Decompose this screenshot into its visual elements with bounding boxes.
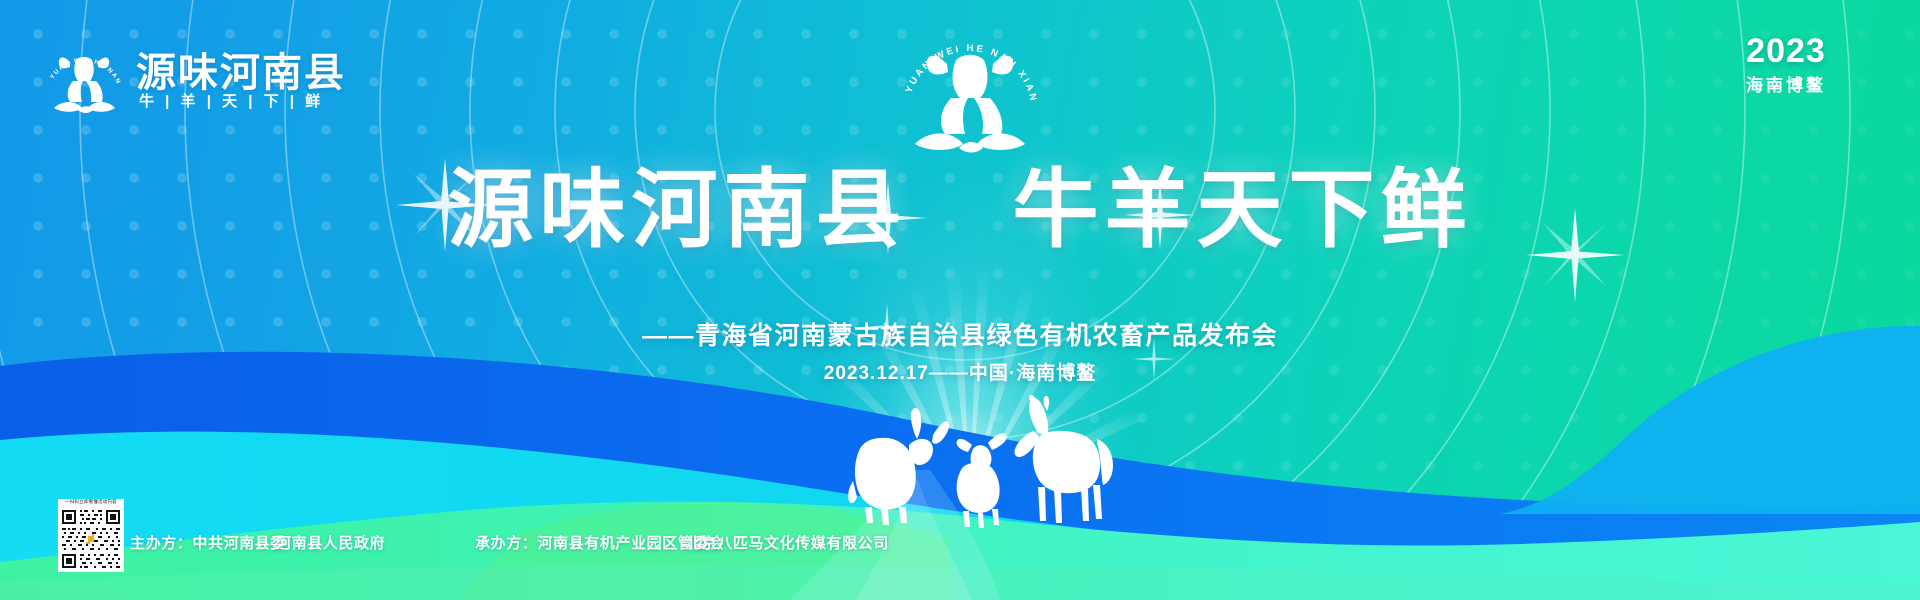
credit-item: 北京八匹马文化传媒有限公司 bbox=[686, 532, 889, 553]
headline-left: 源味河南县 bbox=[448, 160, 908, 261]
credit-item: 河南县人民政府 bbox=[276, 532, 385, 553]
logo-tagline: 牛 | 羊 | 天 | 下 | 鲜 bbox=[139, 90, 324, 111]
qr-code-block[interactable]: 一扫码立即看懂活动内容 bbox=[58, 499, 124, 572]
sheep-silhouette bbox=[957, 433, 1007, 528]
qr-caption: 一扫码立即看懂活动内容 bbox=[58, 499, 124, 506]
credits-row: 主办方：中共河南县委 河南县人民政府 承办方：河南县有机产业园区管委会 北京八匹… bbox=[130, 532, 1230, 556]
horse-silhouette bbox=[1014, 395, 1113, 523]
dateline: 2023.12.17——中国·海南博鳌 bbox=[0, 358, 1920, 385]
yak-head-badge-icon: YUAN WEI HE NAN XIAN bbox=[40, 34, 128, 118]
year-label: 2023 bbox=[1716, 34, 1856, 68]
headline-right: 牛羊天下鲜 bbox=[1012, 160, 1472, 261]
location-label: 海南博鳌 bbox=[1716, 77, 1856, 94]
brand-logo-lockup[interactable]: YUAN WEI HE NAN XIAN 源味河南县 牛 | 羊 | 天 | 下… bbox=[40, 34, 340, 118]
animal-silhouette-group bbox=[845, 395, 1135, 530]
poster-canvas: YUAN WEI HE NAN XIAN 源味河南县 牛 | 羊 | 天 | 下… bbox=[0, 0, 1920, 600]
qr-code-icon[interactable] bbox=[58, 506, 124, 572]
credit-item: 主办方：中共河南县委 bbox=[130, 532, 286, 553]
year-location-block: 2023 海南博鳌 bbox=[1716, 34, 1856, 94]
yak-head-emblem-icon: YUAN WEI HE NAN XIAN bbox=[895, 18, 1045, 158]
headline: 源味河南县 牛羊天下鲜 bbox=[0, 160, 1920, 261]
yak-silhouette bbox=[848, 408, 949, 525]
subtitle: ——青海省河南蒙古族自治县绿色有机农畜产品发布会 bbox=[0, 316, 1920, 352]
